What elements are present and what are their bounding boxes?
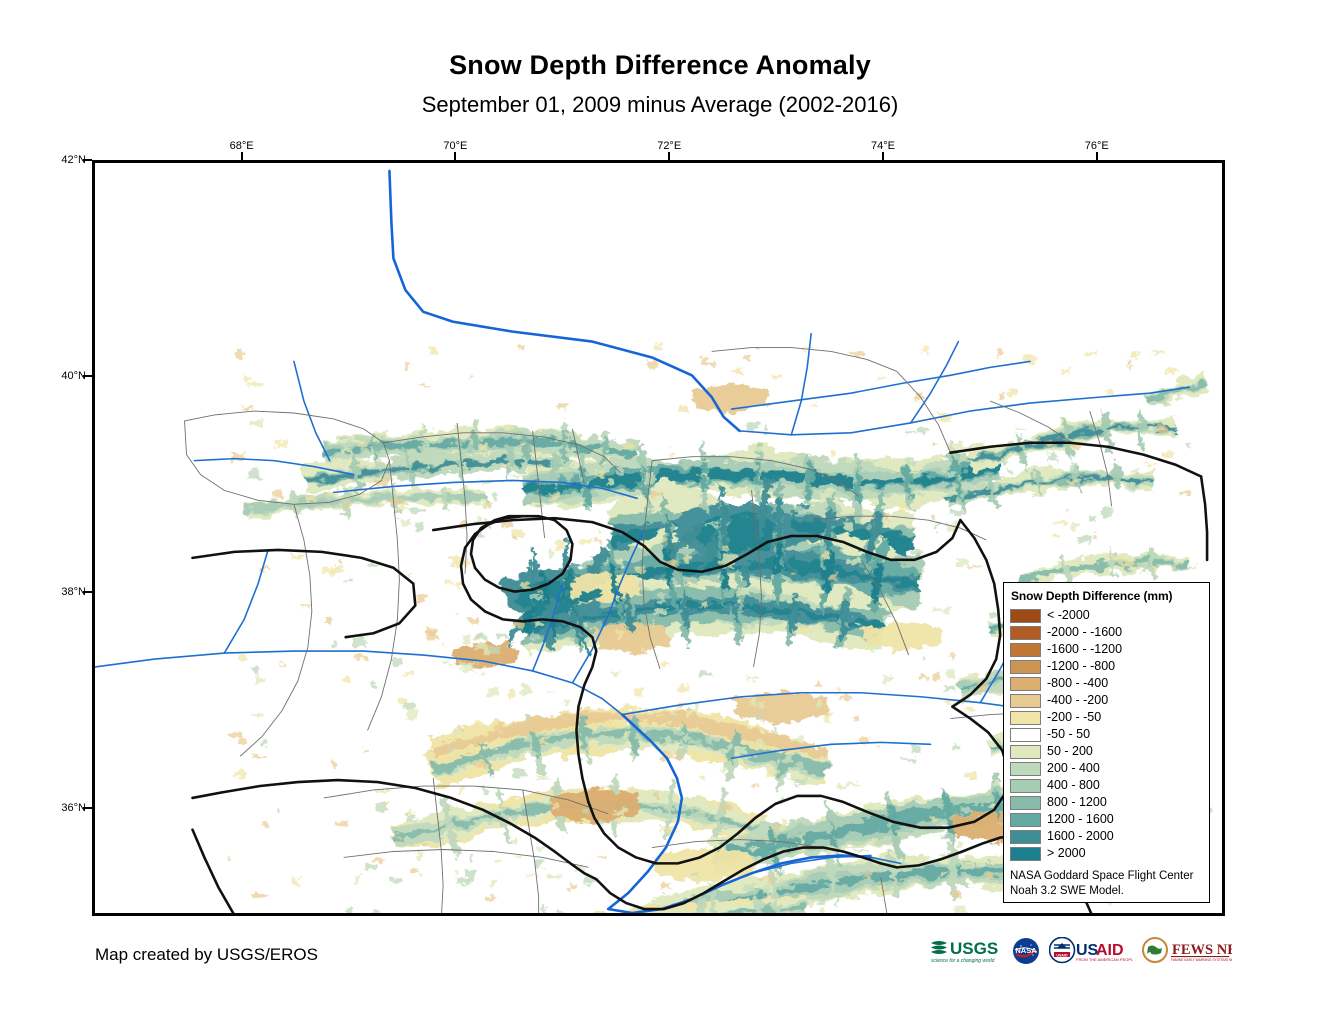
anomaly-patch bbox=[412, 868, 418, 872]
anomaly-patch bbox=[342, 449, 354, 454]
anomaly-patch bbox=[548, 874, 563, 878]
lat-tick-mark bbox=[83, 807, 92, 809]
anomaly-patch bbox=[447, 746, 457, 750]
anomaly-patch bbox=[877, 745, 881, 748]
usaid-logo[interactable]: USAID US AID FROM THE AMERICAN PEOPLE bbox=[1049, 937, 1133, 965]
anomaly-patch bbox=[950, 653, 954, 659]
legend-swatch bbox=[1010, 779, 1041, 793]
anomaly-patch bbox=[513, 768, 527, 777]
anomaly-patch bbox=[556, 912, 565, 913]
nasa-logo[interactable]: NASA bbox=[1012, 937, 1040, 965]
anomaly-patch bbox=[417, 850, 421, 860]
anomaly-patch bbox=[469, 853, 472, 862]
anomaly-patch bbox=[291, 555, 305, 559]
anomaly-patch bbox=[376, 804, 386, 811]
anomaly-patch bbox=[883, 675, 891, 684]
anomaly-patch bbox=[820, 489, 833, 497]
anomaly-patch bbox=[879, 376, 886, 380]
anomaly-patch bbox=[772, 825, 777, 832]
anomaly-patch bbox=[656, 903, 667, 906]
anomaly-patch bbox=[536, 622, 544, 626]
anomaly-patch bbox=[931, 817, 937, 822]
anomaly-patch bbox=[470, 375, 475, 378]
legend-swatch bbox=[1010, 677, 1041, 691]
legend-swatch bbox=[1010, 609, 1041, 623]
anomaly-patch bbox=[544, 731, 548, 735]
anomaly-patch bbox=[918, 428, 930, 433]
legend-row: -2000 - -1600 bbox=[1010, 624, 1203, 641]
anomaly-patch bbox=[820, 908, 824, 913]
anomaly-patch bbox=[233, 770, 245, 778]
anomaly-patch bbox=[465, 870, 475, 880]
svg-text:NASA: NASA bbox=[1015, 946, 1037, 955]
anomaly-patch bbox=[780, 821, 786, 830]
anomaly-patch bbox=[263, 822, 267, 828]
legend-swatch bbox=[1010, 711, 1041, 725]
legend-credit: NASA Goddard Space Flight Center Noah 3.… bbox=[1010, 867, 1203, 898]
anomaly-patch bbox=[1146, 464, 1158, 466]
anomaly-patch bbox=[1153, 565, 1157, 570]
anomaly-patch bbox=[496, 724, 502, 731]
anomaly-patch bbox=[244, 375, 250, 380]
anomaly-patch bbox=[389, 498, 402, 503]
anomaly-patch bbox=[704, 523, 719, 526]
anomaly-patch bbox=[746, 423, 760, 430]
anomaly-patch bbox=[406, 710, 417, 720]
lon-tick-label: 68°E bbox=[230, 140, 254, 152]
legend-swatch bbox=[1010, 830, 1041, 844]
anomaly-patch bbox=[930, 514, 934, 520]
anomaly-patch bbox=[844, 521, 852, 530]
anomaly-patch bbox=[342, 579, 352, 581]
lon-tick-label: 72°E bbox=[657, 140, 681, 152]
anomaly-patch bbox=[654, 608, 667, 614]
anomaly-patch bbox=[323, 570, 336, 575]
anomaly-patch bbox=[706, 362, 717, 366]
anomaly-patch bbox=[490, 645, 500, 655]
anomaly-patch bbox=[634, 688, 642, 696]
anomaly-patch bbox=[542, 905, 546, 912]
anomaly-patch bbox=[750, 847, 759, 851]
anomaly-patch bbox=[1129, 352, 1138, 358]
anomaly-patch bbox=[699, 474, 709, 476]
anomaly-patch bbox=[474, 762, 486, 767]
legend-label: < -2000 bbox=[1047, 609, 1090, 622]
anomaly-patch bbox=[653, 491, 664, 497]
anomaly-patch bbox=[670, 450, 673, 459]
anomaly-patch bbox=[941, 870, 946, 874]
anomaly-patch bbox=[456, 726, 461, 735]
anomaly-patch bbox=[689, 738, 700, 745]
anomaly-patch bbox=[1047, 454, 1057, 461]
anomaly-patch bbox=[1086, 351, 1096, 356]
anomaly-patch bbox=[909, 472, 922, 475]
anomaly-patch bbox=[658, 594, 665, 603]
anomaly-patch bbox=[1033, 470, 1038, 477]
fewsnet-logo[interactable]: FEWS NET FAMINE EARLY WARNING SYSTEMS NE… bbox=[1142, 937, 1232, 965]
anomaly-patch bbox=[810, 405, 818, 407]
anomaly-patch bbox=[304, 495, 316, 502]
lat-tick-mark bbox=[83, 159, 92, 161]
anomaly-patch bbox=[940, 836, 946, 839]
anomaly-patch bbox=[453, 870, 458, 874]
anomaly-patch bbox=[794, 762, 803, 771]
anomaly-patch bbox=[332, 762, 337, 769]
anomaly-patch bbox=[829, 574, 837, 580]
anomaly-patch bbox=[922, 657, 926, 661]
anomaly-patch bbox=[635, 647, 647, 654]
anomaly-patch bbox=[565, 636, 571, 644]
lat-tick-label: 38°N bbox=[52, 586, 86, 598]
anomaly-patch bbox=[943, 472, 955, 477]
svg-text:USAID: USAID bbox=[1056, 953, 1068, 957]
anomaly-patch bbox=[1016, 429, 1026, 432]
anomaly-patch bbox=[374, 910, 381, 913]
anomaly-patch bbox=[722, 805, 732, 812]
anomaly-patch bbox=[483, 649, 490, 656]
anomaly-patch bbox=[1174, 561, 1178, 565]
anomaly-patch bbox=[653, 345, 663, 351]
anomaly-patch bbox=[463, 635, 470, 645]
anomaly-patch bbox=[906, 460, 916, 466]
anomaly-patch bbox=[608, 478, 615, 485]
anomaly-patch bbox=[1188, 566, 1198, 568]
anomaly-patch bbox=[335, 821, 347, 826]
legend-label: 50 - 200 bbox=[1047, 745, 1093, 758]
legend-row: -50 - 50 bbox=[1010, 726, 1203, 743]
anomaly-patch bbox=[775, 881, 788, 888]
anomaly-patch bbox=[564, 701, 570, 704]
anomaly-patch bbox=[652, 792, 660, 798]
lat-tick-mark bbox=[83, 591, 92, 593]
anomaly-patch bbox=[255, 677, 265, 684]
anomaly-patch bbox=[956, 558, 968, 567]
anomaly-patch bbox=[598, 530, 602, 533]
anomaly-patch bbox=[292, 878, 300, 884]
anomaly-patch bbox=[454, 583, 461, 587]
anomaly-patch bbox=[459, 786, 462, 795]
anomaly-patch bbox=[663, 538, 670, 541]
anomaly-patch bbox=[616, 467, 624, 476]
legend-label: -2000 - -1600 bbox=[1047, 626, 1122, 639]
anomaly-patch bbox=[968, 566, 980, 568]
anomaly-patch bbox=[899, 503, 905, 511]
anomaly-patch bbox=[1002, 459, 1006, 466]
anomaly-patch bbox=[403, 703, 414, 710]
anomaly-patch bbox=[477, 643, 489, 649]
anomaly-patch bbox=[771, 375, 780, 379]
svg-text:science for a changing world: science for a changing world bbox=[931, 958, 995, 964]
anomaly-patch bbox=[771, 729, 776, 732]
anomaly-patch bbox=[391, 877, 403, 883]
anomaly-patch bbox=[430, 349, 437, 355]
anomaly-patch bbox=[735, 747, 747, 754]
anomaly-patch bbox=[824, 714, 832, 722]
anomaly-patch bbox=[578, 539, 591, 544]
anomaly-patch bbox=[227, 856, 233, 860]
legend-swatch bbox=[1010, 745, 1041, 759]
anomaly-patch bbox=[748, 484, 762, 491]
anomaly-patch bbox=[530, 595, 544, 599]
anomaly-patch bbox=[406, 813, 414, 822]
anomaly-patch bbox=[680, 406, 689, 412]
anomaly-patch bbox=[610, 672, 619, 675]
anomaly-patch bbox=[757, 701, 764, 709]
anomaly-patch bbox=[364, 749, 369, 753]
anomaly-patch bbox=[966, 772, 978, 779]
legend-swatch bbox=[1010, 643, 1041, 657]
anomaly-patch bbox=[615, 558, 623, 565]
anomaly-patch bbox=[905, 829, 919, 831]
anomaly-patch bbox=[864, 461, 878, 463]
anomaly-patch bbox=[614, 809, 626, 817]
legend-credit-line2: Noah 3.2 SWE Model. bbox=[1010, 884, 1203, 899]
anomaly-patch bbox=[488, 501, 492, 507]
anomaly-patch bbox=[766, 770, 774, 777]
anomaly-patch bbox=[444, 661, 450, 665]
anomaly-patch bbox=[506, 427, 515, 430]
legend-label: -50 - 50 bbox=[1047, 728, 1090, 741]
legend-swatch bbox=[1010, 796, 1041, 810]
anomaly-patch bbox=[1078, 535, 1092, 543]
anomaly-patch bbox=[366, 864, 377, 869]
anomaly-patch bbox=[748, 624, 751, 631]
anomaly-patch bbox=[797, 736, 803, 742]
legend-row: 200 - 400 bbox=[1010, 760, 1203, 777]
page-subtitle: September 01, 2009 minus Average (2002-2… bbox=[0, 92, 1320, 118]
anomaly-patch bbox=[906, 430, 915, 433]
anomaly-patch bbox=[354, 638, 366, 647]
anomaly-patch bbox=[250, 421, 262, 426]
anomaly-patch bbox=[488, 689, 499, 696]
anomaly-patch bbox=[538, 737, 547, 744]
anomaly-patch bbox=[945, 670, 955, 679]
anomaly-patch bbox=[847, 559, 861, 565]
page-title: Snow Depth Difference Anomaly bbox=[0, 50, 1320, 81]
anomaly-patch bbox=[481, 672, 485, 676]
legend-credit-line1: NASA Goddard Space Flight Center bbox=[1010, 869, 1203, 884]
anomaly-patch bbox=[819, 899, 825, 905]
anomaly-patch bbox=[1066, 479, 1079, 482]
anomaly-patch bbox=[1185, 442, 1190, 447]
anomaly-patch bbox=[957, 842, 962, 848]
anomaly-patch bbox=[531, 632, 538, 641]
anomaly-patch bbox=[797, 626, 808, 632]
anomaly-patch bbox=[737, 589, 750, 596]
anomaly-patch bbox=[687, 578, 693, 580]
anomaly-patch bbox=[535, 859, 543, 868]
anomaly-patch bbox=[277, 810, 280, 813]
legend-swatch bbox=[1010, 762, 1041, 776]
anomaly-patch bbox=[707, 736, 712, 745]
anomaly-patch bbox=[409, 508, 424, 513]
anomaly-patch bbox=[402, 673, 412, 677]
anomaly-patch bbox=[1128, 361, 1132, 367]
lon-tick-label: 74°E bbox=[871, 140, 895, 152]
anomaly-patch bbox=[923, 855, 929, 861]
anomaly-patch bbox=[395, 506, 408, 509]
anomaly-patch bbox=[751, 697, 756, 707]
anomaly-patch bbox=[521, 685, 532, 694]
footer-credit: Map created by USGS/EROS bbox=[95, 945, 318, 965]
anomaly-patch bbox=[1152, 351, 1164, 355]
anomaly-patch bbox=[392, 658, 402, 665]
anomaly-patch bbox=[623, 443, 633, 450]
anomaly-patch bbox=[251, 714, 262, 717]
anomaly-patch bbox=[248, 382, 262, 385]
anomaly-patch bbox=[594, 472, 604, 477]
anomaly-patch bbox=[763, 424, 767, 432]
anomaly-patch bbox=[701, 356, 707, 363]
anomaly-patch bbox=[359, 442, 368, 447]
anomaly-patch bbox=[854, 717, 860, 723]
anomaly-patch bbox=[910, 492, 925, 495]
anomaly-patch bbox=[976, 860, 985, 866]
legend-label: -200 - -50 bbox=[1047, 711, 1101, 724]
anomaly-patch bbox=[556, 541, 568, 549]
anomaly-patch bbox=[483, 787, 491, 794]
anomaly-patch bbox=[527, 874, 539, 876]
anomaly-patch bbox=[943, 686, 955, 691]
anomaly-patch bbox=[701, 775, 705, 781]
anomaly-patch bbox=[388, 837, 399, 839]
anomaly-patch bbox=[746, 676, 759, 680]
anomaly-patch bbox=[912, 745, 921, 753]
anomaly-patch bbox=[840, 696, 852, 700]
anomaly-patch bbox=[342, 677, 351, 683]
legend-panel: Snow Depth Difference (mm) < -2000-2000 … bbox=[1003, 582, 1210, 903]
anomaly-patch bbox=[465, 663, 480, 665]
anomaly-patch bbox=[583, 809, 588, 813]
legend-label: 400 - 800 bbox=[1047, 779, 1100, 792]
lat-tick-label: 40°N bbox=[52, 370, 86, 382]
anomaly-patch bbox=[578, 601, 588, 603]
legend-label: 1600 - 2000 bbox=[1047, 830, 1114, 843]
anomaly-patch bbox=[636, 568, 646, 573]
anomaly-patch bbox=[734, 368, 743, 373]
anomaly-patch bbox=[762, 886, 774, 893]
anomaly-patch bbox=[617, 630, 623, 637]
anomaly-patch bbox=[752, 445, 761, 452]
anomaly-patch bbox=[910, 550, 922, 555]
anomaly-patch bbox=[422, 844, 429, 847]
anomaly-patch bbox=[248, 471, 260, 480]
legend-label: -400 - -200 bbox=[1047, 694, 1108, 707]
legend-row: 50 - 200 bbox=[1010, 743, 1203, 760]
anomaly-patch bbox=[418, 873, 422, 877]
legend-label: 800 - 1200 bbox=[1047, 796, 1107, 809]
legend-label: -1600 - -1200 bbox=[1047, 643, 1122, 656]
anomaly-patch bbox=[844, 460, 854, 462]
anomaly-patch bbox=[987, 872, 993, 879]
anomaly-patch bbox=[1112, 555, 1124, 563]
anomaly-patch bbox=[699, 672, 713, 676]
anomaly-patch bbox=[800, 508, 813, 513]
legend-swatch bbox=[1010, 847, 1041, 861]
lat-tick-mark bbox=[83, 375, 92, 377]
anomaly-patch bbox=[933, 674, 940, 681]
anomaly-patch bbox=[1054, 521, 1068, 524]
anomaly-patch bbox=[503, 463, 511, 467]
anomaly-patch bbox=[960, 806, 970, 813]
anomaly-patch bbox=[461, 449, 467, 458]
legend-row: 1600 - 2000 bbox=[1010, 828, 1203, 845]
anomaly-patch bbox=[702, 461, 710, 464]
anomaly-patch bbox=[662, 661, 669, 667]
anomaly-patch bbox=[234, 351, 243, 357]
anomaly-patch bbox=[518, 346, 526, 350]
lon-tick-label: 70°E bbox=[443, 140, 467, 152]
anomaly-patch bbox=[496, 635, 509, 638]
agency-logos: USGS science for a changing world NASA bbox=[929, 936, 1232, 966]
anomaly-patch bbox=[799, 838, 803, 848]
anomaly-patch bbox=[593, 540, 602, 542]
legend-row: -400 - -200 bbox=[1010, 692, 1203, 709]
anomaly-patch bbox=[239, 656, 245, 660]
anomaly-patch bbox=[854, 850, 869, 852]
anomaly-patch bbox=[1008, 389, 1017, 396]
anomaly-patch bbox=[992, 779, 1000, 786]
anomaly-patch bbox=[1124, 561, 1135, 567]
anomaly-patch bbox=[756, 714, 761, 721]
anomaly-patch bbox=[1107, 389, 1115, 395]
anomaly-patch bbox=[512, 535, 517, 542]
anomaly-patch bbox=[1054, 533, 1060, 538]
anomaly-patch bbox=[252, 666, 259, 676]
anomaly-patch bbox=[992, 842, 995, 845]
anomaly-patch bbox=[824, 552, 828, 559]
anomaly-patch bbox=[954, 905, 966, 913]
anomaly-patch bbox=[241, 406, 252, 410]
anomaly-patch bbox=[959, 861, 973, 869]
anomaly-patch bbox=[651, 620, 654, 627]
anomaly-patch bbox=[863, 872, 874, 877]
anomaly-patch bbox=[721, 765, 727, 774]
legend-row: -1600 - -1200 bbox=[1010, 641, 1203, 658]
svg-text:USGS: USGS bbox=[950, 939, 998, 958]
anomaly-patch bbox=[300, 604, 309, 607]
anomaly-patch bbox=[1064, 508, 1069, 512]
anomaly-patch bbox=[845, 783, 859, 787]
legend-swatch bbox=[1010, 626, 1041, 640]
anomaly-patch bbox=[790, 572, 795, 575]
usgs-logo[interactable]: USGS science for a changing world bbox=[929, 937, 1003, 965]
anomaly-patch bbox=[817, 623, 822, 628]
legend-row: -800 - -400 bbox=[1010, 675, 1203, 692]
anomaly-patch bbox=[820, 863, 825, 868]
lat-tick-label: 42°N bbox=[52, 154, 86, 166]
svg-text:FEWS NET: FEWS NET bbox=[1172, 942, 1232, 958]
anomaly-patch bbox=[1072, 523, 1077, 531]
anomaly-patch bbox=[486, 895, 494, 901]
anomaly-patch bbox=[988, 613, 997, 619]
anomaly-patch bbox=[759, 876, 772, 880]
anomaly-patch bbox=[679, 685, 689, 693]
anomaly-patch bbox=[565, 438, 572, 442]
anomaly-patch bbox=[509, 690, 515, 698]
anomaly-patch bbox=[584, 621, 588, 628]
legend-row: -200 - -50 bbox=[1010, 709, 1203, 726]
anomaly-patch bbox=[1089, 515, 1096, 521]
anomaly-patch bbox=[355, 655, 367, 659]
svg-text:FAMINE EARLY WARNING SYSTEMS N: FAMINE EARLY WARNING SYSTEMS NETWORK bbox=[1171, 958, 1232, 962]
anomaly-patch bbox=[1165, 369, 1177, 372]
anomaly-patch bbox=[537, 591, 544, 594]
anomaly-patch bbox=[415, 596, 425, 602]
anomaly-patch bbox=[513, 838, 516, 844]
anomaly-patch bbox=[1129, 488, 1140, 490]
anomaly-patch bbox=[338, 559, 342, 563]
